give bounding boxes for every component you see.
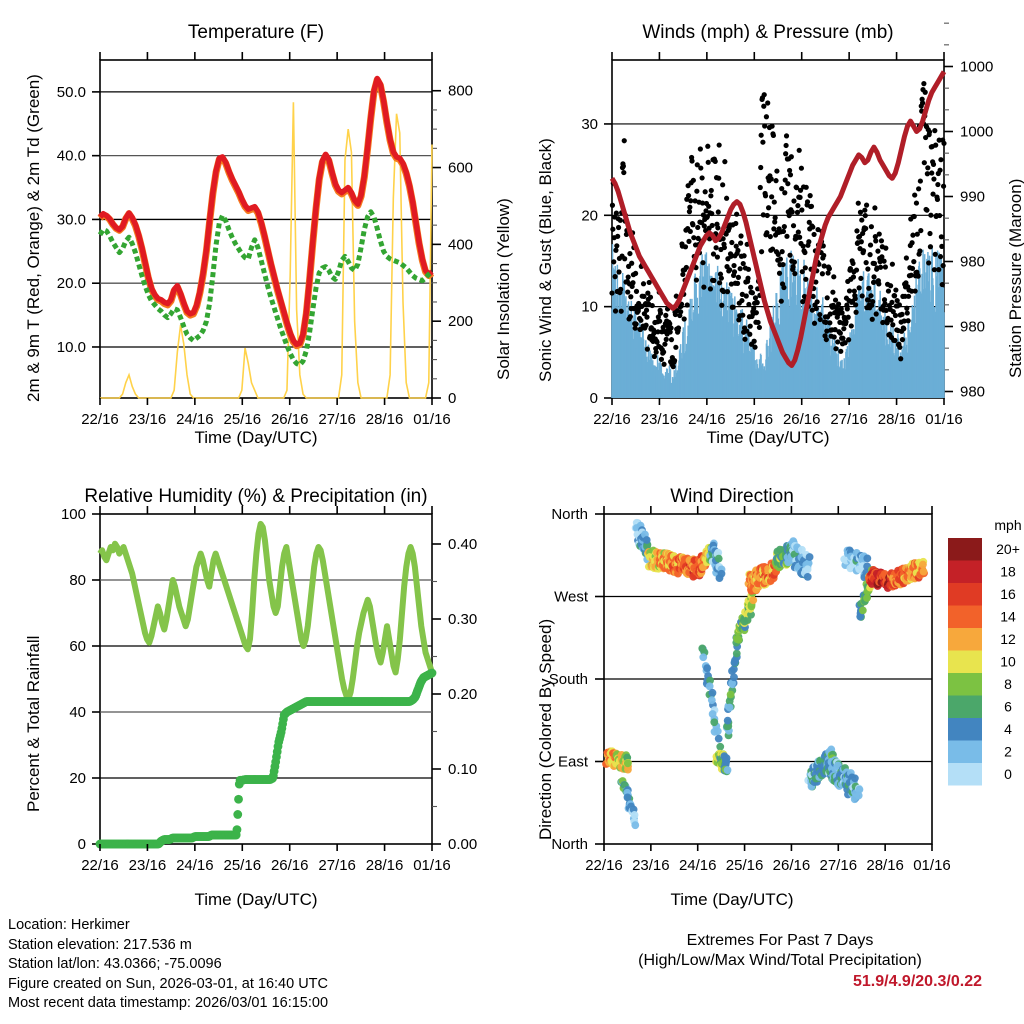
colorbar-swatch: [948, 718, 982, 741]
y-tick-label: 20: [581, 207, 598, 224]
plot-area-temperature: 10.020.030.040.050.0020040060080022/1623…: [0, 0, 512, 400]
y2-tick-label: 600: [448, 160, 473, 177]
y-tick-label: West: [554, 589, 589, 606]
x-tick-label: 26/16: [271, 857, 309, 874]
x-tick-label: 24/16: [176, 857, 214, 874]
xaxis-label-winds: Time (Day/UTC): [512, 428, 1024, 448]
colorbar-tick-label: 16: [1000, 586, 1016, 602]
x-tick-label: 22/16: [585, 857, 623, 874]
x-tick-label: 25/16: [736, 411, 774, 428]
plot-area-humidity: 0204060801000.000.100.200.300.4022/1623/…: [0, 472, 512, 872]
x-tick-label: 23/16: [632, 857, 670, 874]
x-tick-label: 22/16: [593, 411, 631, 428]
y2-tick-label: 0.40: [448, 536, 477, 553]
y2-tick-label: 400: [448, 236, 473, 253]
extremes-subtitle: (High/Low/Max Wind/Total Precipitation): [560, 952, 1000, 970]
x-tick-label: 28/16: [878, 411, 916, 428]
x-tick-label: 25/16: [224, 857, 262, 874]
panel-winds-pressure: Winds (mph) & Pressure (mb) Sonic Wind &…: [512, 0, 1024, 460]
x-tick-label: 24/16: [679, 857, 717, 874]
x-tick-label: 01/16: [925, 411, 963, 428]
colorbar-tick-label: 12: [1000, 631, 1016, 647]
y-tick-label: 80: [69, 572, 86, 589]
x-tick-label: 01/16: [913, 857, 951, 874]
x-tick-label: 25/16: [726, 857, 764, 874]
metadata-elevation: Station elevation: 217.536 m: [8, 936, 328, 956]
extremes-title: Extremes For Past 7 Days: [560, 932, 1000, 950]
colorbar-tick-label: 2: [1004, 744, 1012, 760]
colorbar-tick-label: 8: [1004, 676, 1012, 692]
colorbar-swatch: [948, 696, 982, 719]
extremes-block: Extremes For Past 7 Days (High/Low/Max W…: [560, 932, 1000, 991]
x-tick-label: 27/16: [830, 411, 868, 428]
y2-tick-label: 0.20: [448, 686, 477, 703]
y2-tick-label: 980: [960, 384, 985, 401]
y2-tick-label: 0: [448, 390, 456, 407]
panel-wind-direction: Wind Direction Direction (Colored By Spe…: [512, 472, 1024, 932]
colorbar-swatch: [948, 673, 982, 696]
colorbar-swatch: [948, 606, 982, 629]
colorbar-wind-speed: mph20+181614121086420: [944, 512, 1024, 842]
x-tick-label: 28/16: [366, 857, 404, 874]
colorbar-tick-label: 0: [1004, 766, 1012, 782]
y2-tick-label: 980: [960, 254, 985, 271]
y2-tick-label: 0.10: [448, 761, 477, 778]
colorbar-swatch: [948, 561, 982, 584]
colorbar-swatch: [948, 538, 982, 561]
y-tick-label: North: [551, 836, 588, 853]
metadata-location: Location: Herkimer: [8, 916, 328, 936]
y2-tick-label: 1000: [960, 59, 993, 76]
x-tick-label: 23/16: [129, 411, 167, 428]
colorbar-swatch: [948, 628, 982, 651]
y-tick-label: 60: [69, 638, 86, 655]
y-tick-label: 0: [590, 390, 598, 407]
y-tick-label: 20: [69, 770, 86, 787]
y-tick-label: 30.0: [57, 211, 86, 228]
metadata-created: Figure created on Sun, 2026-03-01, at 16…: [8, 975, 328, 995]
metadata-timestamp: Most recent data timestamp: 2026/03/01 1…: [8, 994, 328, 1014]
x-tick-label: 24/16: [176, 411, 214, 428]
x-tick-label: 28/16: [866, 857, 904, 874]
x-tick-label: 01/16: [413, 411, 451, 428]
xaxis-label-humidity: Time (Day/UTC): [0, 890, 512, 910]
xaxis-label-wind-direction: Time (Day/UTC): [512, 890, 952, 910]
y-tick-label: 30: [581, 116, 598, 133]
y-tick-label: 100: [61, 506, 86, 523]
y2-tick-label: 990: [960, 189, 985, 206]
y-tick-label: 0: [78, 836, 86, 853]
station-metadata: Location: Herkimer Station elevation: 21…: [8, 916, 328, 1014]
x-tick-label: 26/16: [271, 411, 309, 428]
colorbar-tick-label: 14: [1000, 609, 1016, 625]
x-tick-label: 27/16: [318, 411, 356, 428]
x-tick-label: 25/16: [224, 411, 262, 428]
y2-tick-label: 800: [448, 83, 473, 100]
plot-area-winds: 01020309809809809901000100022/1623/1624/…: [512, 0, 1024, 400]
y2-tick-label: 200: [448, 313, 473, 330]
colorbar-tick-label: 4: [1004, 721, 1012, 737]
y-tick-label: North: [551, 506, 588, 523]
y-tick-label: East: [558, 754, 589, 771]
xaxis-label-temperature: Time (Day/UTC): [0, 428, 512, 448]
y-tick-label: 40.0: [57, 148, 86, 165]
colorbar-swatch: [948, 651, 982, 674]
colorbar-tick-label: 18: [1000, 564, 1016, 580]
x-tick-label: 27/16: [820, 857, 858, 874]
x-tick-label: 01/16: [413, 857, 451, 874]
y2-tick-label: 0.30: [448, 611, 477, 628]
x-tick-label: 22/16: [81, 411, 119, 428]
y-tick-label: 50.0: [57, 84, 86, 101]
x-tick-label: 26/16: [783, 411, 821, 428]
y-tick-label: 40: [69, 704, 86, 721]
y2-tick-label: 980: [960, 319, 985, 336]
colorbar-tick-label: 10: [1000, 654, 1016, 670]
y2-tick-label: 1000: [960, 124, 993, 141]
colorbar-swatch: [948, 763, 982, 786]
x-tick-label: 24/16: [688, 411, 726, 428]
colorbar-tick-label: 6: [1004, 699, 1012, 715]
extremes-values: 51.9/4.9/20.3/0.22: [560, 973, 1000, 991]
panel-temperature: Temperature (F) 2m & 9m T (Red, Orange) …: [0, 0, 512, 460]
y-tick-label: South: [549, 671, 588, 688]
y-tick-label: 10.0: [57, 339, 86, 356]
y-tick-label: 20.0: [57, 275, 86, 292]
x-tick-label: 22/16: [81, 857, 119, 874]
colorbar-unit-label: mph: [994, 517, 1021, 533]
colorbar-swatch: [948, 741, 982, 764]
x-tick-label: 26/16: [773, 857, 811, 874]
x-tick-label: 27/16: [318, 857, 356, 874]
x-tick-label: 28/16: [366, 411, 404, 428]
metadata-latlon: Station lat/lon: 43.0366; -75.0096: [8, 955, 328, 975]
y2-tick-label: 0.00: [448, 836, 477, 853]
colorbar-swatch: [948, 583, 982, 606]
y-tick-label: 10: [581, 299, 598, 316]
panel-humidity-precip: Relative Humidity (%) & Precipitation (i…: [0, 472, 512, 932]
x-tick-label: 23/16: [641, 411, 679, 428]
colorbar-tick-label: 20+: [996, 541, 1020, 557]
x-tick-label: 23/16: [129, 857, 167, 874]
